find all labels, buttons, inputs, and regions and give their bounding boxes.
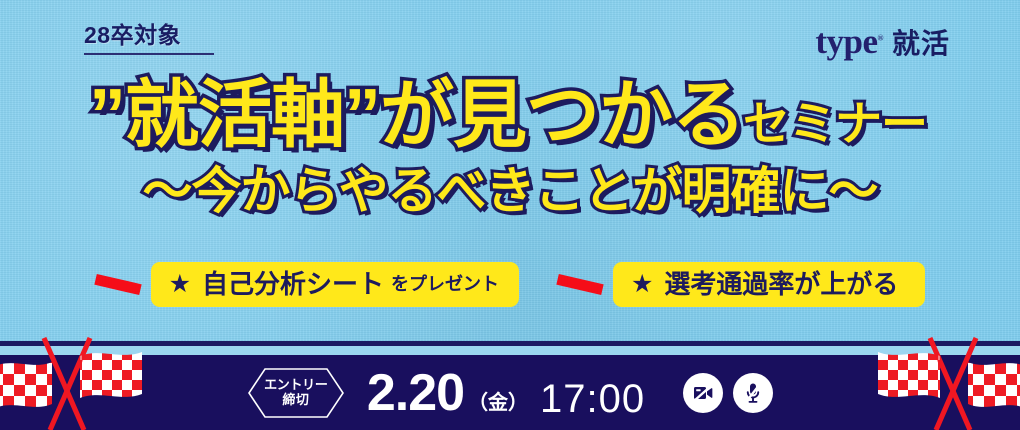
eyebrow-label: 28卒対象 xyxy=(84,22,214,48)
headline-subtitle-text: 〜今からやるべきことが明確に〜 xyxy=(143,163,878,219)
logo-type-wordmark: type® xyxy=(815,24,883,59)
camera-off-glyph xyxy=(691,381,715,405)
headline-main-text: ”就活軸”が見つかる xyxy=(89,73,745,156)
mic-off-icon xyxy=(733,373,773,413)
seminar-banner: 28卒対象 type® 就活 ”就活軸”が見つかるセミナー 〜今からやるべきこと… xyxy=(0,0,1020,430)
benefit-2: ★ 選考通過率が上がる xyxy=(557,262,925,307)
headline-block: ”就活軸”が見つかるセミナー 〜今からやるべきことが明確に〜 xyxy=(0,78,1020,216)
av-icons-group xyxy=(683,373,773,413)
logo-type-text: type xyxy=(815,22,877,61)
benefit-2-main-text: 選考通過率が上がる xyxy=(664,271,898,297)
event-day-of-week: （金） xyxy=(468,393,528,413)
headline-line-2: 〜今からやるべきことが明確に〜 xyxy=(0,166,1020,216)
checkered-flag-pair-icon xyxy=(0,330,192,430)
entry-deadline-badge: エントリー 締切 xyxy=(247,367,345,419)
deadline-label-line1: エントリー xyxy=(264,378,328,393)
event-datetime: 2.20 （金） 17:00 xyxy=(367,367,645,419)
footer-content: エントリー 締切 2.20 （金） 17:00 xyxy=(247,367,773,419)
eyebrow-underline xyxy=(84,53,214,55)
eyebrow-target-audience: 28卒対象 xyxy=(84,22,214,55)
benefit-badge-2: ★ 選考通過率が上がる xyxy=(613,262,925,307)
benefit-1: ★ 自己分析シート をプレゼント xyxy=(95,262,519,307)
registered-trademark-icon: ® xyxy=(878,33,883,42)
star-icon: ★ xyxy=(631,272,653,297)
benefit-badge-1: ★ 自己分析シート をプレゼント xyxy=(151,262,519,307)
event-date: 2.20 xyxy=(367,367,464,419)
red-slash-icon xyxy=(556,274,603,295)
event-time: 17:00 xyxy=(540,379,645,419)
star-icon: ★ xyxy=(169,272,191,297)
red-slash-icon xyxy=(94,274,141,295)
checkered-flag-pair-icon xyxy=(828,330,1020,430)
deadline-label-line2: 締切 xyxy=(282,393,309,408)
mic-off-glyph xyxy=(741,381,765,405)
benefit-1-main-text: 自己分析シート xyxy=(202,271,384,297)
brand-logo[interactable]: type® 就活 xyxy=(815,24,950,59)
headline-line-1: ”就活軸”が見つかるセミナー xyxy=(0,78,1020,152)
headline-seminar-text: セミナー xyxy=(743,97,927,150)
camera-off-icon xyxy=(683,373,723,413)
checkered-flags-left xyxy=(0,330,192,430)
checkered-flags-right xyxy=(828,330,1020,430)
benefits-row: ★ 自己分析シート をプレゼント ★ 選考通過率が上がる xyxy=(0,262,1020,307)
benefit-1-small-text: をプレゼント xyxy=(391,275,499,293)
logo-suffix-text: 就活 xyxy=(892,30,950,58)
